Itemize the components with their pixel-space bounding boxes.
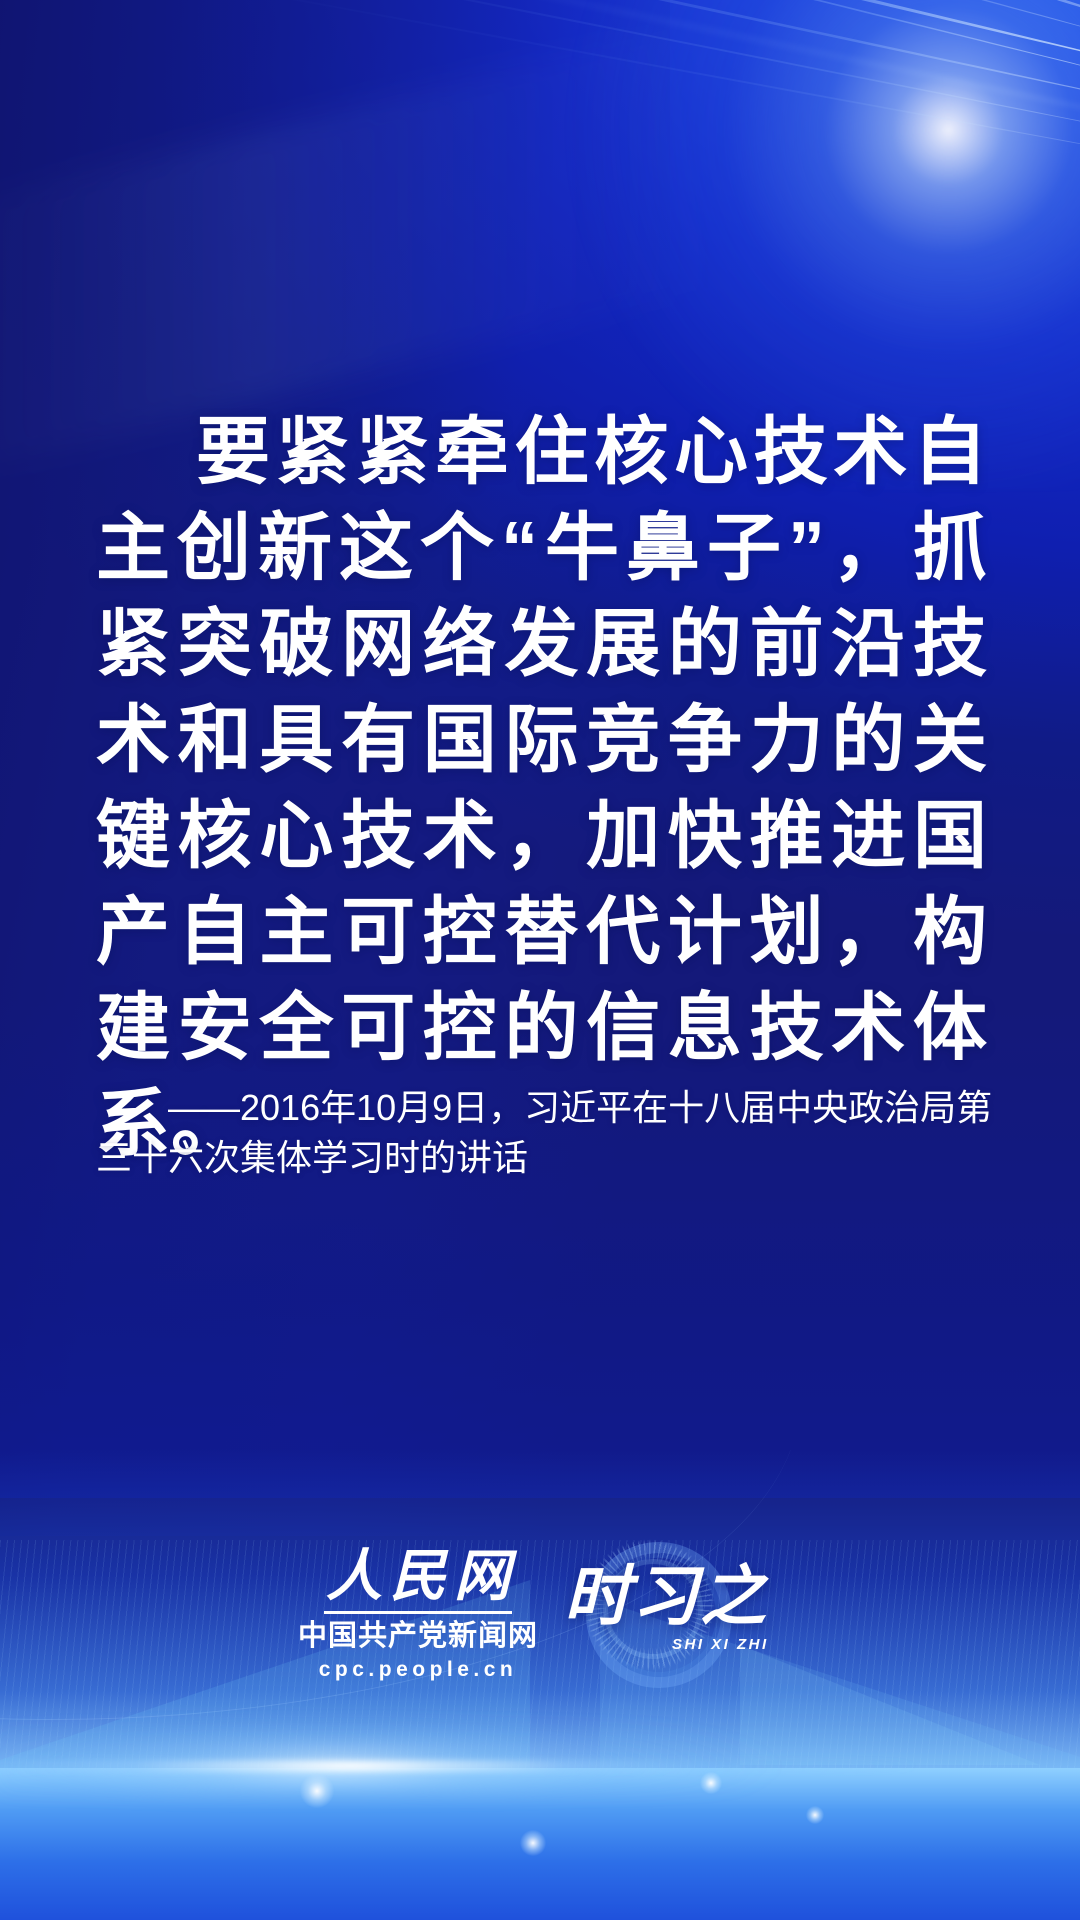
spark-icon bbox=[300, 1774, 334, 1808]
horizon-light-line bbox=[0, 1760, 1080, 1772]
people-cn-brand: 人民网 bbox=[318, 1546, 518, 1608]
people-cn-subtitle: 中国共产党新闻网 bbox=[298, 1619, 538, 1653]
spark-icon bbox=[700, 1772, 722, 1794]
logo-lockup: 人民网 中国共产党新闻网 cpc.people.cn 时习之 SHI XI ZH… bbox=[0, 1540, 1080, 1690]
logo-divider bbox=[324, 1611, 512, 1614]
shixizhi-logo[interactable]: 时习之 SHI XI ZHI bbox=[562, 1540, 782, 1690]
quote-text: 要紧紧牵住核心技术自主创新这个“牛鼻子”，抓紧突破网络发展的前沿技术和具有国际竞… bbox=[96, 404, 988, 1172]
quote-block: 要紧紧牵住核心技术自主创新这个“牛鼻子”，抓紧突破网络发展的前沿技术和具有国际竞… bbox=[96, 404, 988, 1172]
spark-icon bbox=[520, 1830, 546, 1856]
shixizhi-pinyin: SHI XI ZHI bbox=[672, 1636, 769, 1653]
people-cn-logo[interactable]: 人民网 中国共产党新闻网 cpc.people.cn bbox=[298, 1540, 538, 1684]
shixizhi-title: 时习之 bbox=[564, 1558, 768, 1634]
poster-canvas: 要紧紧牵住核心技术自主创新这个“牛鼻子”，抓紧突破网络发展的前沿技术和具有国际竞… bbox=[0, 0, 1080, 1920]
people-cn-url: cpc.people.cn bbox=[319, 1656, 518, 1684]
quote-attribution: ——2016年10月9日，习近平在十八届中央政治局第三十六次集体学习时的讲话 bbox=[96, 1083, 996, 1183]
spark-icon bbox=[806, 1806, 824, 1824]
